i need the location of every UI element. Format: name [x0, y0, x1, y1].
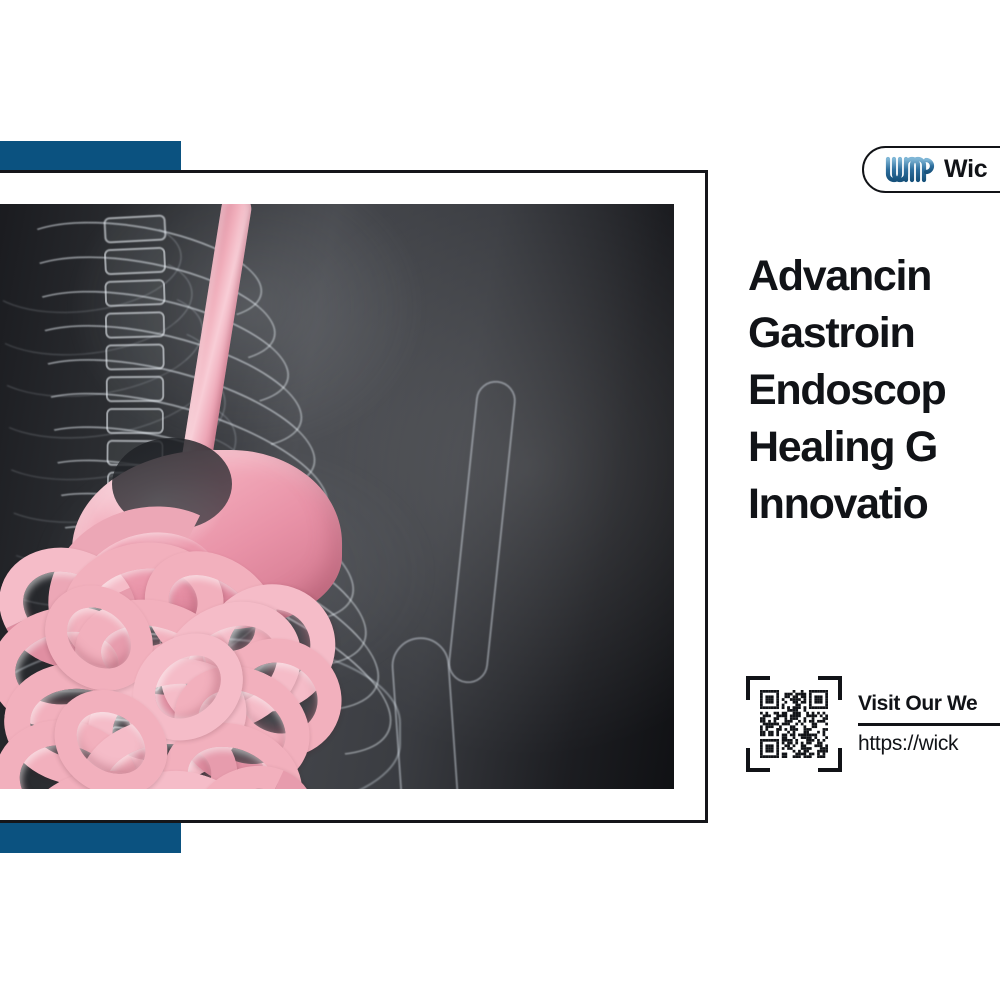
anatomy-photo: [0, 204, 674, 789]
cta-divider: [858, 723, 1000, 726]
content-column: Wic Advancin Gastroin Endoscop Healing G…: [730, 0, 1000, 1000]
cta-title: Visit Our We: [858, 692, 1000, 716]
small-intestine-graphic: [0, 543, 290, 789]
cta-text-group: Visit Our We https://wick: [858, 692, 1000, 756]
headline-line-3: Endoscop: [748, 362, 1000, 419]
cta-url[interactable]: https://wick: [858, 732, 1000, 756]
visit-website-cta[interactable]: Visit Our We https://wick: [746, 676, 1000, 772]
qr-code-icon: [760, 690, 828, 758]
gi-tract-graphic: [0, 204, 674, 789]
headline-line-4: Healing G: [748, 419, 1000, 476]
anatomy-photo-background: [0, 204, 674, 789]
brand-logo[interactable]: Wic: [862, 146, 1000, 193]
qr-code[interactable]: [746, 676, 842, 772]
headline-line-2: Gastroin: [748, 305, 1000, 362]
brand-logo-icon: [882, 154, 936, 186]
headline-line-1: Advancin: [748, 248, 1000, 305]
brand-logo-text: Wic: [944, 155, 987, 184]
poster-canvas: Wic Advancin Gastroin Endoscop Healing G…: [0, 0, 1000, 1000]
headline-line-5: Innovatio: [748, 476, 1000, 533]
page-title: Advancin Gastroin Endoscop Healing G Inn…: [748, 248, 1000, 533]
